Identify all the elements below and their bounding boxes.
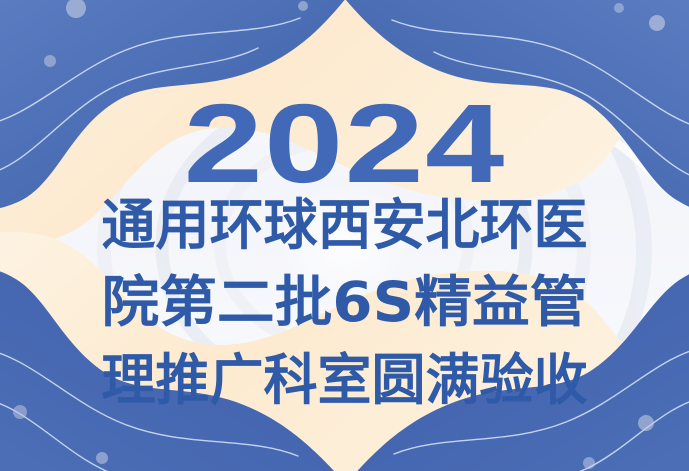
decor-dot: [298, 1, 308, 11]
decor-dot: [96, 452, 108, 464]
poster-canvas: 2024 通用环球西安北环医 院第二批6S精益管 理推广科室圆满验收: [0, 0, 689, 471]
ring-core-glow: [278, 184, 410, 300]
decor-dot: [614, 3, 624, 13]
decor-dot: [13, 405, 27, 419]
decor-dot: [583, 457, 595, 469]
decor-dot: [649, 15, 665, 31]
background-artwork: [0, 0, 689, 471]
decor-dot: [638, 415, 654, 431]
decor-dot: [44, 55, 56, 67]
